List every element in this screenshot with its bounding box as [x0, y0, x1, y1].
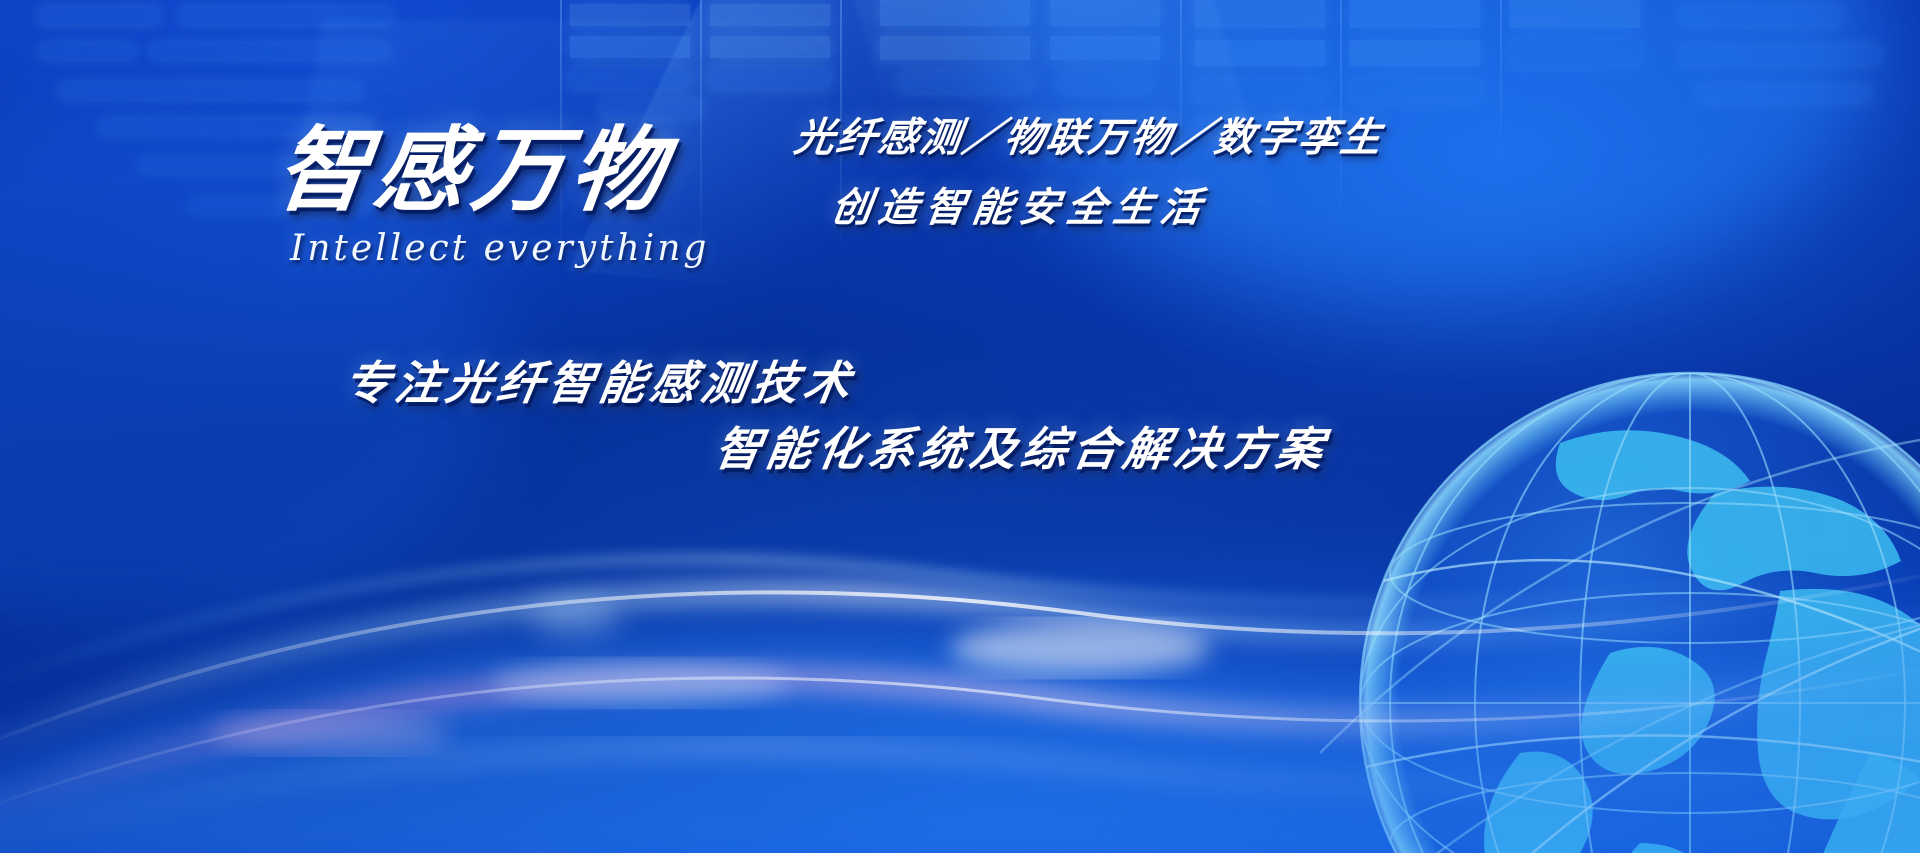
tagline-line-1: 光纤感测／物联万物／数字孪生 — [791, 105, 1387, 163]
banner-content: 智感万物 Intellect everything 光纤感测／物联万物／数字孪生… — [0, 0, 1920, 853]
slogan-line-1: 专注光纤智能感测技术 — [340, 347, 860, 413]
page-subtitle-english: Intellect everything — [290, 228, 709, 269]
tagline-line-2: 创造智能安全生活 — [828, 175, 1212, 233]
page-title: 智感万物 — [270, 96, 678, 229]
hero-banner: 智感万物 Intellect everything 光纤感测／物联万物／数字孪生… — [0, 0, 1920, 853]
slogan-line-2: 智能化系统及综合解决方案 — [711, 413, 1333, 479]
